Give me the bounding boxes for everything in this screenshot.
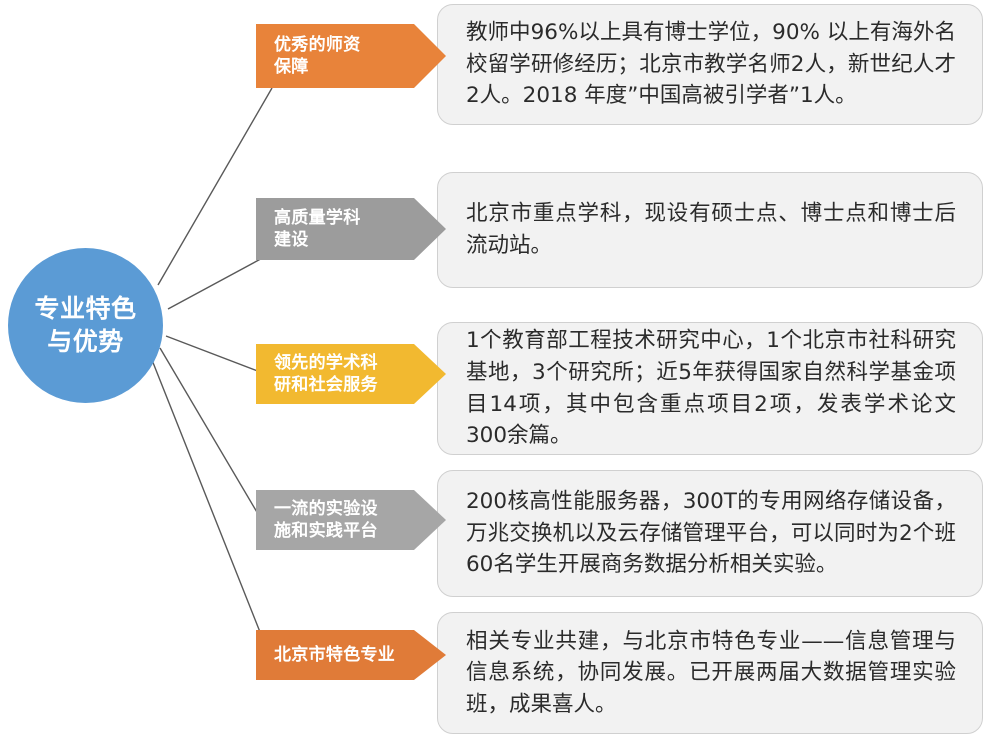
chevron-label-academic-research-service: 领先的学术科 研和社会服务 xyxy=(274,352,378,396)
chevron-label-beijing-featured-major: 北京市特色专业 xyxy=(274,644,395,666)
chevron-discipline-construction[interactable]: 高质量学科 建设 xyxy=(256,198,446,260)
bubble-text-discipline-construction: 北京市重点学科，现设有硕士点、博士点和博士后流动站。 xyxy=(466,198,956,261)
bubble-beijing-featured-major: 相关专业共建，与北京市特色专业——信息管理与信息系统，协同发展。已开展两届大数据… xyxy=(437,612,983,734)
chevron-teaching-staff[interactable]: 优秀的师资 保障 xyxy=(256,24,446,88)
chevron-lab-facilities-platform[interactable]: 一流的实验设 施和实践平台 xyxy=(256,490,446,550)
diagram-canvas: 专业特色 与优势 优秀的师资 保障 教师中96%以上具有博士学位，90% 以上有… xyxy=(0,0,988,740)
connector-line-3 xyxy=(166,336,263,373)
connector-line-5 xyxy=(152,360,260,632)
connector-line-2 xyxy=(168,255,268,309)
chevron-label-lab-facilities-platform: 一流的实验设 施和实践平台 xyxy=(274,498,378,542)
bubble-lab-facilities-platform: 200核高性能服务器，300T的专用网络存储设备，万兆交换机以及云存储管理平台，… xyxy=(437,470,983,597)
bubble-discipline-construction: 北京市重点学科，现设有硕士点、博士点和博士后流动站。 xyxy=(437,172,983,288)
bubble-text-lab-facilities-platform: 200核高性能服务器，300T的专用网络存储设备，万兆交换机以及云存储管理平台，… xyxy=(466,486,956,581)
chevron-beijing-featured-major[interactable]: 北京市特色专业 xyxy=(256,630,446,680)
connector-line-1 xyxy=(158,88,272,285)
hub-node[interactable]: 专业特色 与优势 xyxy=(8,248,163,403)
chevron-label-teaching-staff: 优秀的师资 保障 xyxy=(274,34,361,78)
bubble-teaching-staff: 教师中96%以上具有博士学位，90% 以上有海外名校留学研修经历；北京市教学名师… xyxy=(437,4,983,125)
bubble-text-academic-research-service: 1个教育部工程技术研究中心，1个北京市社科研究基地，3个研究所；近5年获得国家自… xyxy=(466,325,956,451)
bubble-text-teaching-staff: 教师中96%以上具有博士学位，90% 以上有海外名校留学研修经历；北京市教学名师… xyxy=(466,17,956,112)
bubble-text-beijing-featured-major: 相关专业共建，与北京市特色专业——信息管理与信息系统，协同发展。已开展两届大数据… xyxy=(466,626,956,721)
bubble-academic-research-service: 1个教育部工程技术研究中心，1个北京市社科研究基地，3个研究所；近5年获得国家自… xyxy=(437,322,983,455)
connector-line-4 xyxy=(160,348,261,519)
chevron-label-discipline-construction: 高质量学科 建设 xyxy=(274,207,361,251)
chevron-academic-research-service[interactable]: 领先的学术科 研和社会服务 xyxy=(256,344,446,404)
hub-label: 专业特色 与优势 xyxy=(34,293,136,359)
